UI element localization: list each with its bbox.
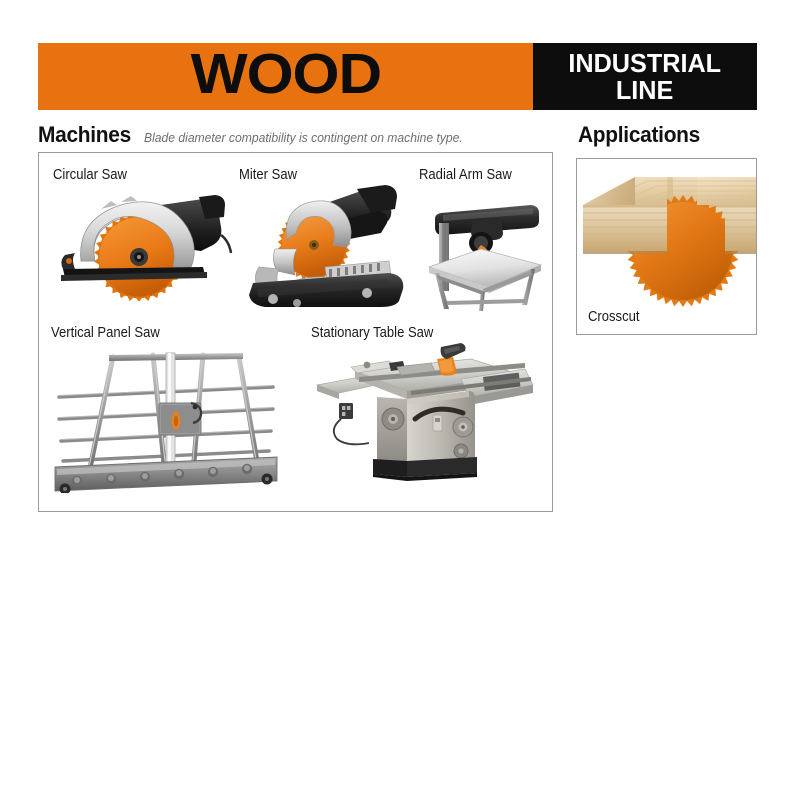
header-line-label-2: LINE (616, 77, 673, 104)
machine-label-radial-arm-saw: Radial Arm Saw (419, 167, 534, 183)
machine-item-circular-saw: Circular Saw (53, 167, 233, 301)
radial-arm-saw-icon (419, 183, 547, 313)
page-title: WOOD (190, 46, 380, 107)
machine-label-stationary-table-saw: Stationary Table Saw (311, 325, 514, 341)
machine-item-stationary-table-saw: Stationary Table Saw (311, 325, 536, 481)
machine-label-miter-saw: Miter Saw (239, 167, 397, 183)
machines-heading-row: Machines Blade diameter compatibility is… (38, 122, 473, 148)
machines-panel: Circular Saw (38, 152, 553, 512)
applications-panel: Crosscut (576, 158, 757, 335)
application-label-crosscut: Crosscut (588, 309, 639, 325)
header-line-badge: INDUSTRIAL LINE (533, 43, 757, 110)
circular-saw-icon (53, 183, 233, 301)
machines-note: Blade diameter compatibility is continge… (144, 131, 463, 145)
machine-item-miter-saw: Miter Saw (239, 167, 414, 313)
applications-heading: Applications (578, 122, 700, 148)
machine-item-radial-arm-saw: Radial Arm Saw (419, 167, 547, 313)
machine-item-vertical-panel-saw: Vertical Panel Saw (51, 325, 281, 493)
machine-label-circular-saw: Circular Saw (53, 167, 215, 183)
machines-heading: Machines (38, 122, 131, 148)
crosscut-illustration-icon (577, 159, 756, 334)
header-line-label-1: INDUSTRIAL (569, 50, 722, 77)
miter-saw-icon (239, 183, 414, 313)
header-product-band: WOOD (38, 43, 533, 110)
stationary-table-saw-icon (311, 341, 536, 481)
machine-label-vertical-panel-saw: Vertical Panel Saw (51, 325, 258, 341)
vertical-panel-saw-icon (51, 341, 281, 493)
wood-industrial-line-page: WOOD INDUSTRIAL LINE Machines Blade diam… (0, 0, 800, 800)
page-header: WOOD INDUSTRIAL LINE (38, 43, 757, 110)
